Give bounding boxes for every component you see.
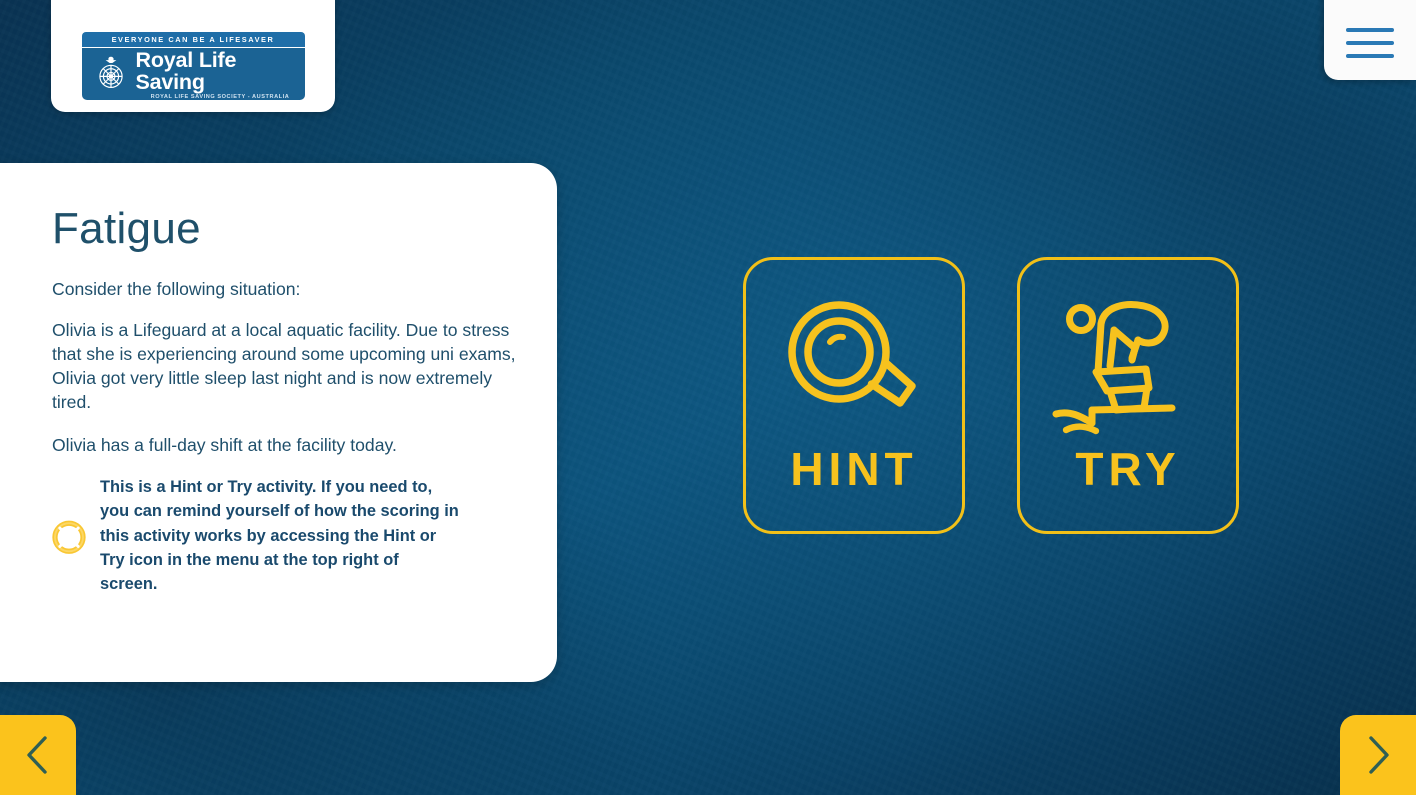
previous-button[interactable] xyxy=(0,715,76,795)
diver-starting-block-icon xyxy=(1052,296,1204,438)
logo-main-panel: Royal Life Saving ROYAL LIFE SAVING SOCI… xyxy=(82,48,305,100)
hint-try-callout: This is a Hint or Try activity. If you n… xyxy=(52,475,517,596)
logo-wordmark: Royal Life Saving ROYAL LIFE SAVING SOCI… xyxy=(136,49,305,100)
try-card[interactable]: TRY xyxy=(1017,257,1239,534)
detail-text: Olivia has a full-day shift at the facil… xyxy=(52,433,517,457)
hamburger-menu-icon xyxy=(1346,28,1394,32)
next-button[interactable] xyxy=(1340,715,1416,795)
try-label: TRY xyxy=(1075,446,1180,492)
hint-label: HINT xyxy=(790,446,917,492)
scenario-text: Olivia is a Lifeguard at a local aquatic… xyxy=(52,318,517,414)
page-title: Fatigue xyxy=(52,207,517,251)
hamburger-menu-icon-bar xyxy=(1346,41,1394,45)
hamburger-menu-icon-bar xyxy=(1346,54,1394,58)
lifesaving-crest-icon xyxy=(92,55,130,93)
menu-button[interactable] xyxy=(1324,0,1416,80)
logo-tagline: EVERYONE CAN BE A LIFESAVER xyxy=(112,35,275,44)
content-panel: Fatigue Consider the following situation… xyxy=(0,163,557,682)
brand-logo-card: EVERYONE CAN BE A LIFESAVER Royal Life S… xyxy=(51,0,335,112)
hint-icon-wrap xyxy=(778,292,930,442)
hint-card[interactable]: HINT xyxy=(743,257,965,534)
try-icon-wrap xyxy=(1052,292,1204,442)
callout-text: This is a Hint or Try activity. If you n… xyxy=(100,475,460,596)
logo-name: Royal Life Saving xyxy=(136,49,305,93)
magnifying-glass-icon xyxy=(778,296,930,438)
chevron-right-icon xyxy=(1361,733,1395,777)
chevron-left-icon xyxy=(21,733,55,777)
logo-subtitle: ROYAL LIFE SAVING SOCIETY - AUSTRALIA xyxy=(136,94,305,100)
lifebuoy-icon xyxy=(52,478,86,596)
logo-inner: EVERYONE CAN BE A LIFESAVER Royal Life S… xyxy=(82,32,305,101)
intro-text: Consider the following situation: xyxy=(52,277,517,301)
logo-tagline-banner: EVERYONE CAN BE A LIFESAVER xyxy=(82,32,305,47)
activity-options: HINT xyxy=(743,257,1239,534)
